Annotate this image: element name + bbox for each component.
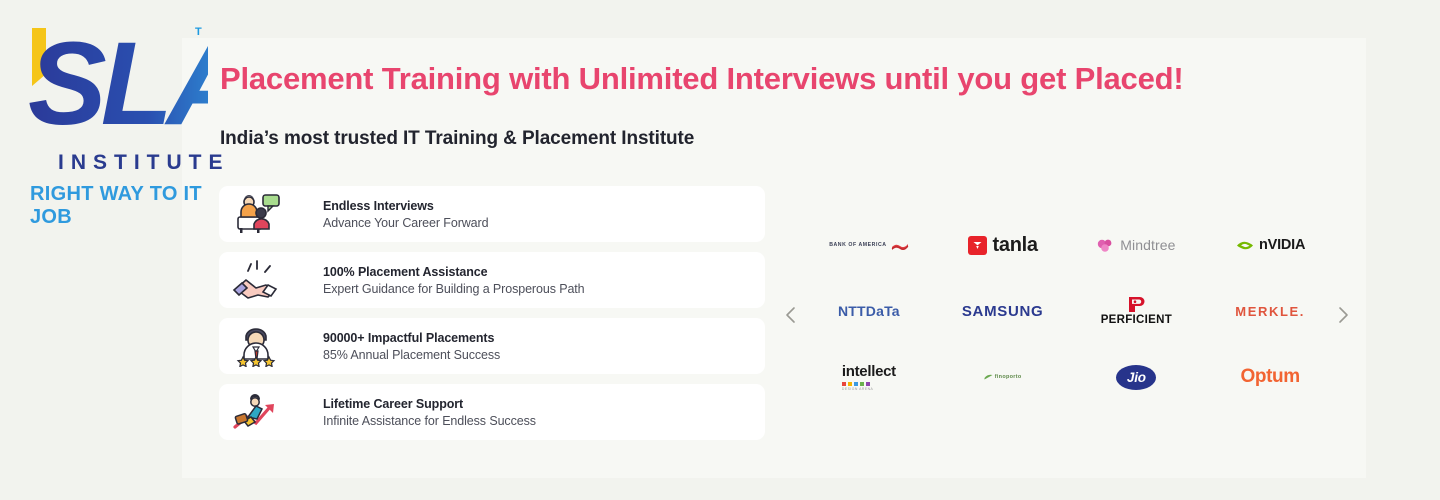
tanla-mark-icon (968, 236, 987, 255)
client-logo-label: tanla (993, 234, 1038, 257)
feature-card-list: Endless Interviews Advance Your Career F… (219, 186, 765, 450)
client-logo-nvidia[interactable]: nVIDIA (1203, 212, 1337, 278)
client-logo-merkle[interactable]: MERKLE. (1203, 278, 1337, 344)
hero-headline: Placement Training with Unlimited Interv… (220, 62, 1280, 95)
client-logo-ntt-data[interactable]: NTTDaTa (802, 278, 936, 344)
feature-card[interactable]: Endless Interviews Advance Your Career F… (219, 186, 765, 242)
client-logo-label: NTTDaTa (838, 303, 900, 319)
client-logo-label: finoporto (995, 374, 1022, 380)
client-logo-jio[interactable]: Jio (1070, 344, 1204, 410)
interview-icon (219, 186, 293, 242)
client-logo-carousel: BANK OF AMERICA tanla (780, 212, 1360, 412)
intellect-dots-icon (842, 382, 870, 386)
merkle-dot: . (1300, 304, 1305, 319)
feature-title: 90000+ Impactful Placements (323, 331, 500, 345)
client-logo-label: nVIDIA (1259, 237, 1305, 253)
feature-card[interactable]: Lifetime Career Support Infinite Assista… (219, 384, 765, 440)
finoporto-mark-icon (984, 374, 993, 380)
client-logo-perficient[interactable]: PERFICIENT (1070, 278, 1204, 344)
logo-row: BANK OF AMERICA tanla (802, 212, 1337, 278)
hero-subheadline: India’s most trusted IT Training & Place… (220, 128, 1120, 150)
handshake-icon (219, 252, 293, 308)
svg-text:SLA: SLA (28, 18, 208, 142)
client-logo-label: PERFICIENT (1101, 314, 1172, 326)
feature-title: 100% Placement Assistance (323, 265, 585, 279)
jio-mark-icon: Jio (1116, 365, 1156, 390)
feature-card[interactable]: 90000+ Impactful Placements 85% Annual P… (219, 318, 765, 374)
logo-row: NTTDaTa SAMSUNG PERFICIENT MERKLE. (802, 278, 1337, 344)
feature-subtitle: Advance Your Career Forward (323, 216, 488, 230)
feature-subtitle: Expert Guidance for Building a Prosperou… (323, 282, 585, 296)
brand-logo[interactable]: SLA T INSTITUTE RIGHT WAY TO IT JOB (12, 12, 208, 197)
feature-title: Endless Interviews (323, 199, 488, 213)
trademark-symbol: T (195, 26, 202, 38)
brand-tagline: RIGHT WAY TO IT JOB (30, 183, 208, 229)
client-logo-optum[interactable]: Optum (1203, 344, 1337, 410)
bank-of-america-flag-icon (891, 241, 909, 250)
client-logo-bank-of-america[interactable]: BANK OF AMERICA (802, 212, 936, 278)
client-logo-tanla[interactable]: tanla (936, 212, 1070, 278)
feature-card[interactable]: 100% Placement Assistance Expert Guidanc… (219, 252, 765, 308)
client-logo-sublabel: DESIGN ARENA (842, 387, 873, 391)
logo-row: intellect DESIGN ARENA finoporto (802, 344, 1337, 410)
mindtree-mark-icon (1097, 238, 1114, 253)
chevron-left-icon[interactable] (780, 304, 802, 326)
feature-subtitle: Infinite Assistance for Endless Success (323, 414, 536, 428)
institute-label: INSTITUTE (58, 151, 230, 175)
feature-title: Lifetime Career Support (323, 397, 536, 411)
feature-subtitle: 85% Annual Placement Success (323, 348, 500, 362)
career-growth-icon (219, 384, 293, 440)
client-logo-label: SAMSUNG (962, 303, 1044, 320)
perficient-mark-icon (1126, 296, 1146, 313)
client-logo-label: Mindtree (1120, 237, 1175, 253)
client-logo-intellect[interactable]: intellect DESIGN ARENA (802, 344, 936, 410)
client-logo-mindtree[interactable]: Mindtree (1070, 212, 1204, 278)
client-logo-label: MERKLE (1235, 304, 1300, 319)
client-logo-samsung[interactable]: SAMSUNG (936, 278, 1070, 344)
client-logo-label: Jio (1127, 370, 1146, 385)
graduate-stars-icon (219, 318, 293, 374)
client-logo-grid: BANK OF AMERICA tanla (802, 212, 1337, 410)
client-logo-label: Optum (1241, 366, 1300, 388)
client-logo-label: BANK OF AMERICA (829, 242, 886, 248)
sla-logo-mark: SLA (12, 12, 208, 142)
client-logo-label: intellect (842, 363, 896, 380)
client-logo-finoporto[interactable]: finoporto (936, 344, 1070, 410)
nvidia-eye-icon (1235, 239, 1255, 252)
